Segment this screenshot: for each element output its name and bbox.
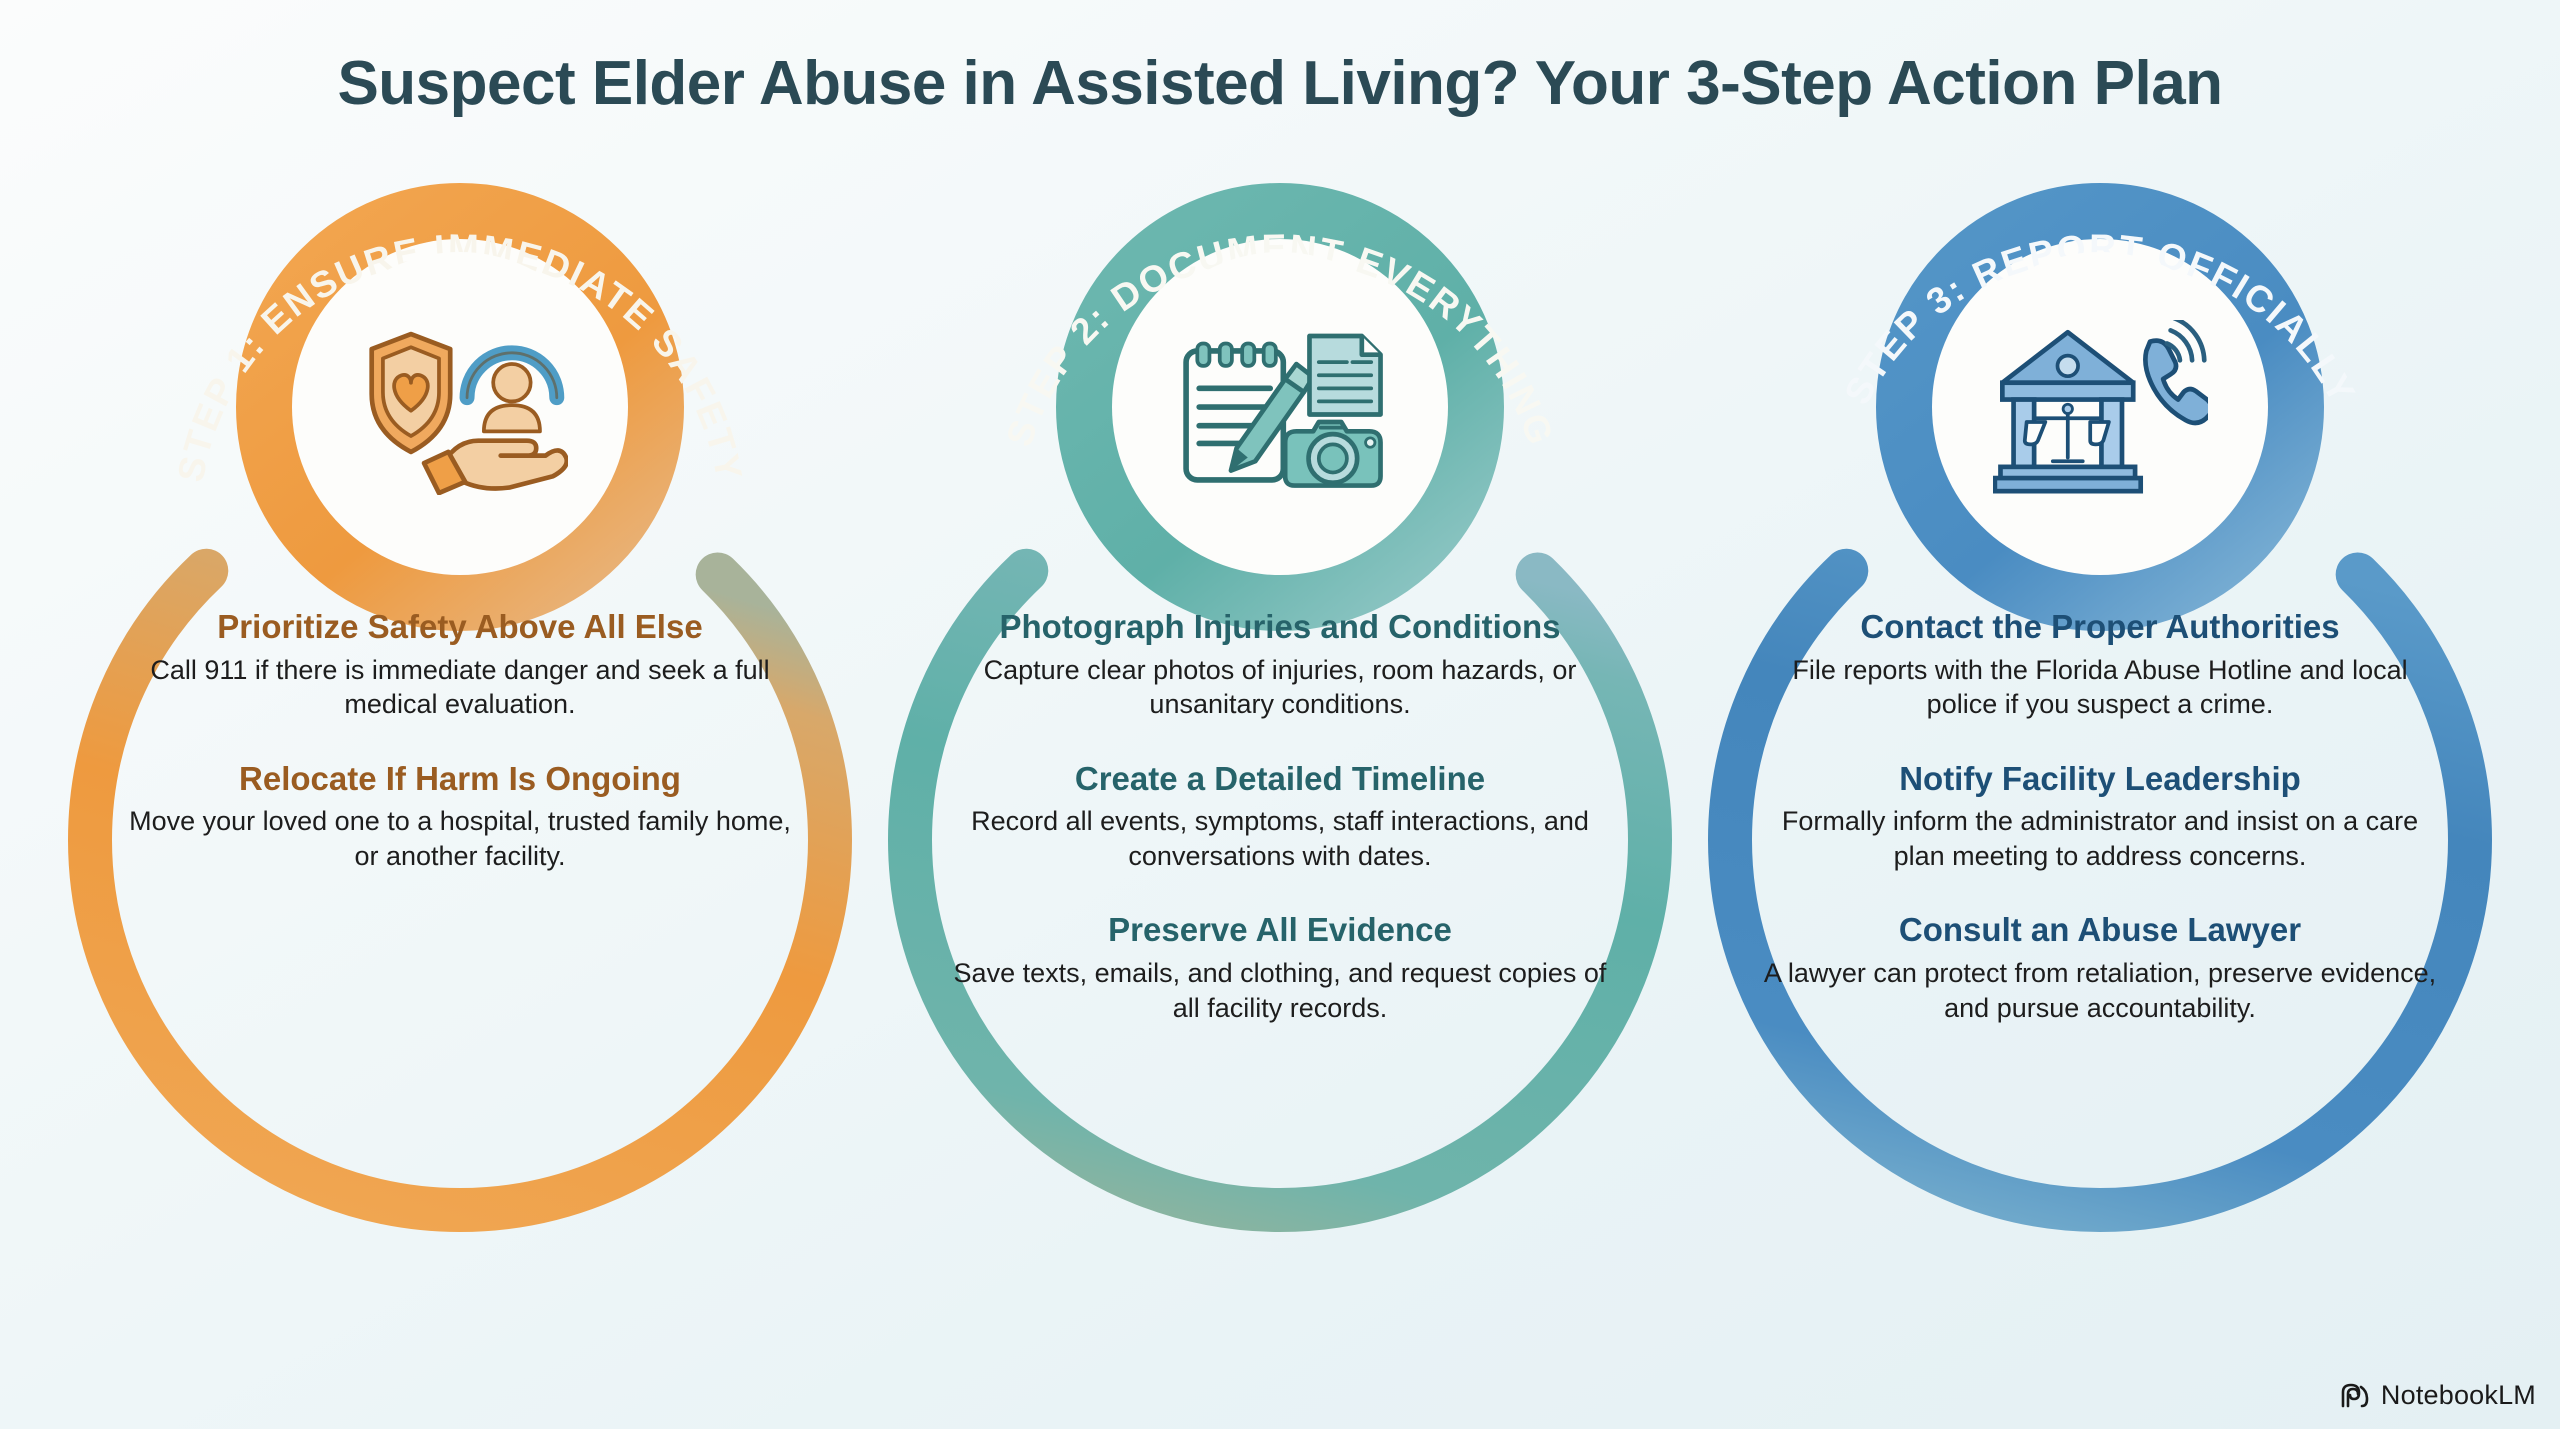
step-3-item-2: Notify Facility Leadership Formally info… [1758, 760, 2442, 874]
step-2-icon-container [1125, 252, 1435, 562]
item-body: Call 911 if there is immediate danger an… [118, 653, 802, 722]
notebooklm-watermark: NotebookLM [2339, 1380, 2536, 1411]
notepad-pen-document-camera-icon [1173, 320, 1388, 495]
item-body: Move your loved one to a hospital, trust… [118, 804, 802, 873]
step-1-item-2: Relocate If Harm Is Ongoing Move your lo… [118, 760, 802, 874]
step-column-3: STEP 3: REPORT OFFICIALLY [1680, 190, 2520, 1360]
step-3-text-block: Contact the Proper Authorities File repo… [1758, 608, 2442, 1025]
step-2-item-3: Preserve All Evidence Save texts, emails… [938, 911, 1622, 1025]
courthouse-scales-phone-icon [1993, 320, 2208, 495]
item-body: File reports with the Florida Abuse Hotl… [1758, 653, 2442, 722]
infographic-canvas: Suspect Elder Abuse in Assisted Living? … [0, 0, 2560, 1429]
step-1-icon-container [305, 252, 615, 562]
step-3-icon-container [1945, 252, 2255, 562]
step-column-1: STEP 1: ENSURE IMMEDIATE SAFETY [40, 190, 880, 1360]
item-body: Save texts, emails, and clothing, and re… [938, 956, 1622, 1025]
notebooklm-logo-icon [2339, 1382, 2371, 1410]
item-body: A lawyer can protect from retaliation, p… [1758, 956, 2442, 1025]
watermark-label: NotebookLM [2381, 1380, 2536, 1411]
page-title: Suspect Elder Abuse in Assisted Living? … [0, 48, 2560, 119]
item-heading: Preserve All Evidence [938, 911, 1622, 950]
item-heading: Consult an Abuse Lawyer [1758, 911, 2442, 950]
step-1-text-block: Prioritize Safety Above All Else Call 91… [118, 608, 802, 873]
step-3-item-3: Consult an Abuse Lawyer A lawyer can pro… [1758, 911, 2442, 1025]
item-heading: Prioritize Safety Above All Else [118, 608, 802, 647]
item-heading: Relocate If Harm Is Ongoing [118, 760, 802, 799]
item-body: Capture clear photos of injuries, room h… [938, 653, 1622, 722]
item-body: Record all events, symptoms, staff inter… [938, 804, 1622, 873]
step-2-text-block: Photograph Injuries and Conditions Captu… [938, 608, 1622, 1025]
step-1-item-1: Prioritize Safety Above All Else Call 91… [118, 608, 802, 722]
step-column-2: STEP 2: DOCUMENT EVERYTHING [860, 190, 1700, 1360]
item-heading: Photograph Injuries and Conditions [938, 608, 1622, 647]
shield-heart-hand-person-icon [353, 320, 568, 495]
step-2-item-1: Photograph Injuries and Conditions Captu… [938, 608, 1622, 722]
item-body: Formally inform the administrator and in… [1758, 804, 2442, 873]
item-heading: Create a Detailed Timeline [938, 760, 1622, 799]
item-heading: Contact the Proper Authorities [1758, 608, 2442, 647]
item-heading: Notify Facility Leadership [1758, 760, 2442, 799]
step-3-item-1: Contact the Proper Authorities File repo… [1758, 608, 2442, 722]
step-2-item-2: Create a Detailed Timeline Record all ev… [938, 760, 1622, 874]
